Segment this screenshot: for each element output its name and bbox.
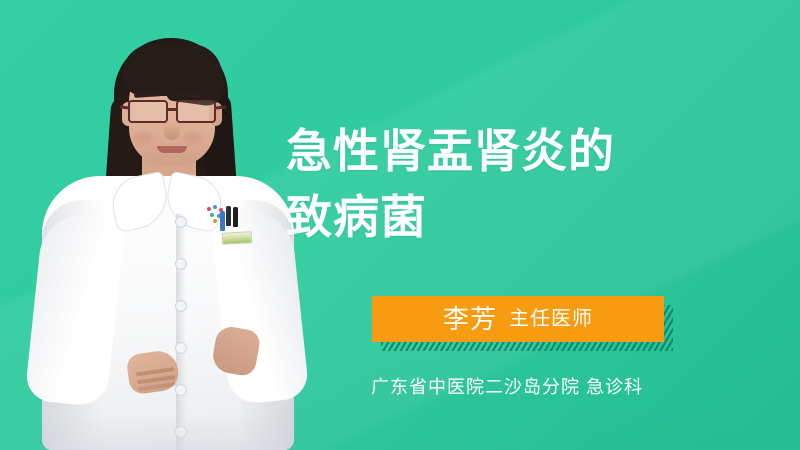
presenter-title: 主任医师 (509, 309, 593, 329)
cheek-right (184, 132, 202, 144)
mouth (157, 146, 187, 153)
glasses-bridge (167, 108, 177, 111)
glasses-temple-left (120, 105, 130, 109)
coat-button (175, 384, 187, 396)
pocket-pen (220, 211, 225, 231)
coat-button (175, 300, 187, 312)
headline-line-2: 致病菌 (286, 184, 756, 250)
lens-right (176, 100, 216, 123)
pocket-pen (226, 206, 231, 226)
presenter-affiliation: 广东省中医院二沙岛分院 急诊科 (371, 373, 643, 399)
lens-left (128, 100, 168, 123)
presenter-badge: 李芳 主任医师 (372, 296, 664, 342)
coat-button (175, 258, 187, 270)
doctor-portrait-photo (8, 0, 308, 450)
headline-title: 急性肾盂肾炎的 致病菌 (286, 118, 756, 250)
video-thumbnail: 急性肾盂肾炎的 致病菌 李芳 主任医师 广东省中医院二沙岛分院 急诊科 (0, 0, 800, 450)
pocket-pen (233, 207, 238, 227)
presenter-name: 李芳 (443, 306, 497, 332)
headline-line-1: 急性肾盂肾炎的 (286, 118, 756, 184)
eyeglasses-icon (120, 100, 224, 124)
coat-button (175, 342, 187, 354)
hair-fringe (122, 44, 222, 96)
nose (164, 122, 180, 140)
coat-button (175, 216, 187, 228)
coat-hem (52, 414, 286, 450)
staff-name-card (222, 231, 253, 245)
badge-surface: 李芳 主任医师 (372, 296, 664, 342)
cheek-left (134, 132, 152, 144)
